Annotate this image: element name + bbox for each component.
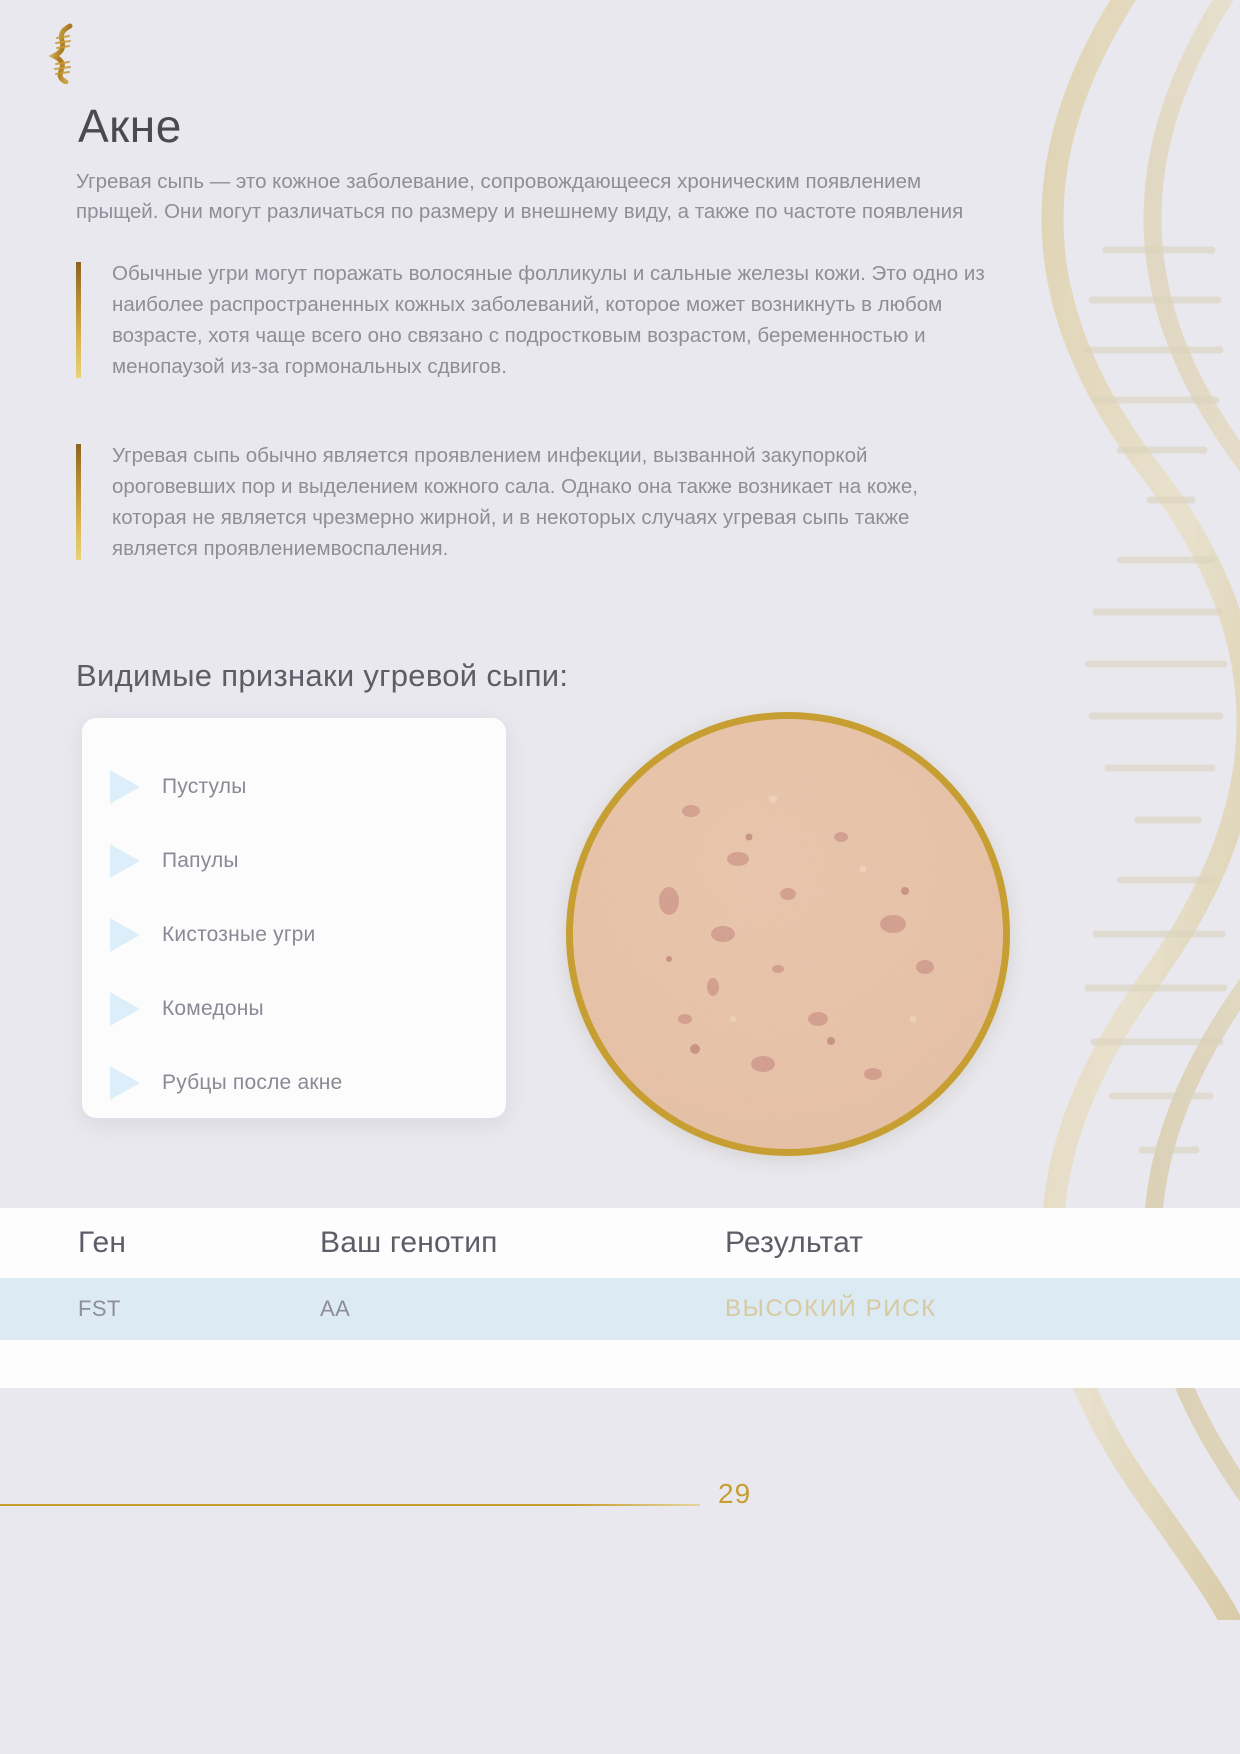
- document-page: Акне Угревая сыпь — это кожное заболеван…: [0, 0, 1240, 1754]
- footer-divider: [0, 1504, 700, 1506]
- status-badge: ВЫСОКИЙ РИСК: [725, 1295, 1240, 1323]
- symptom-label: Пустулы: [162, 775, 247, 799]
- dna-helix-icon: [40, 22, 86, 84]
- column-header-result: Результат: [725, 1226, 1240, 1260]
- table-header-row: Ген Ваш генотип Результат: [0, 1208, 1240, 1278]
- symptom-label: Комедоны: [162, 997, 264, 1021]
- table-spacer-row: [0, 1340, 1240, 1388]
- symptom-list: Пустулы Папулы Кистозные угри Комедоны Р…: [82, 718, 506, 1120]
- symptom-label: Папулы: [162, 849, 239, 873]
- list-item: Пустулы: [82, 750, 506, 824]
- triangle-right-icon: [110, 844, 140, 878]
- results-table: Ген Ваш генотип Результат FST AA ВЫСОКИЙ…: [0, 1208, 1240, 1388]
- quote-block-2: Угревая сыпь обычно является проявлением…: [76, 440, 992, 564]
- triangle-right-icon: [110, 1066, 140, 1100]
- column-header-gene: Ген: [0, 1226, 320, 1260]
- page-number: 29: [718, 1478, 751, 1510]
- intro-paragraph: Угревая сыпь — это кожное заболевание, с…: [76, 167, 966, 227]
- list-item: Рубцы после акне: [82, 1046, 506, 1120]
- cell-gene: FST: [0, 1296, 320, 1322]
- quote-text-2: Угревая сыпь обычно является проявлением…: [112, 440, 992, 564]
- triangle-right-icon: [110, 770, 140, 804]
- skin-acne-photo: [566, 712, 1010, 1156]
- symptom-label: Рубцы после акне: [162, 1071, 342, 1095]
- cell-genotype: AA: [320, 1296, 725, 1322]
- list-item: Кистозные угри: [82, 898, 506, 972]
- quote-block-1: Обычные угри могут поражать волосяные фо…: [76, 258, 992, 382]
- triangle-right-icon: [110, 918, 140, 952]
- quote-text-1: Обычные угри могут поражать волосяные фо…: [112, 258, 992, 382]
- section-heading: Видимые признаки угревой сыпи:: [76, 658, 568, 694]
- list-item: Папулы: [82, 824, 506, 898]
- symptom-list-card: Пустулы Папулы Кистозные угри Комедоны Р…: [82, 718, 506, 1118]
- column-header-genotype: Ваш генотип: [320, 1226, 725, 1260]
- triangle-right-icon: [110, 992, 140, 1026]
- table-row: FST AA ВЫСОКИЙ РИСК: [0, 1278, 1240, 1340]
- symptom-label: Кистозные угри: [162, 923, 316, 947]
- list-item: Комедоны: [82, 972, 506, 1046]
- page-title: Акне: [78, 103, 182, 149]
- skin-photo-inner: [573, 719, 1003, 1149]
